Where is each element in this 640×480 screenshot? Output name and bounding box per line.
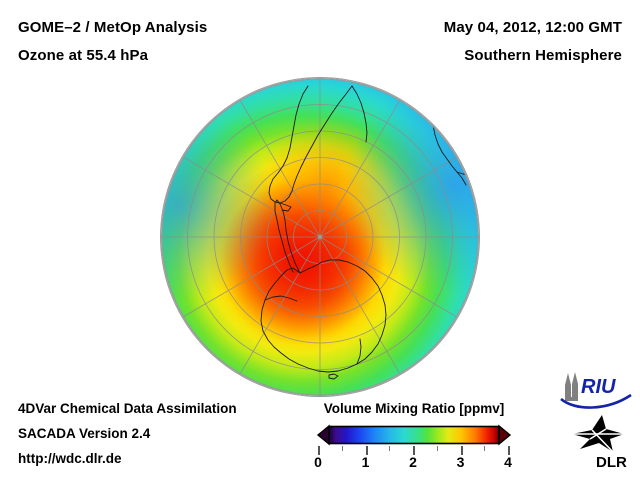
method-label: 4DVar Chemical Data Assimilation [18,401,237,416]
colorbar-title: Volume Mixing Ratio [ppmv] [318,401,510,416]
riu-wordmark: RIU [581,376,616,398]
datetime-label: May 04, 2012, 12:00 GMT [444,19,622,36]
region-label: Southern Hemisphere [464,47,622,64]
dlr-wordmark: DLR [596,454,627,471]
colorbar-tick-label: 3 [457,454,465,470]
south-pole-marker [318,235,322,239]
colorbar [306,424,522,446]
quantity-subtitle: Ozone at 55.4 hPa [18,47,148,64]
globe-map [161,78,479,396]
riu-logo: RIU [559,371,637,411]
colorbar-extend-high [499,426,510,444]
colorbar-tick-label: 0 [314,454,322,470]
website-url[interactable]: http://wdc.dlr.de [18,451,122,466]
colorbar-tick-label: 2 [409,454,417,470]
visualization-canvas: GOME–2 / MetOp Analysis Ozone at 55.4 hP… [0,0,640,480]
colorbar-bar [329,427,499,444]
ozone-field-plot [161,78,479,396]
colorbar-tick-label: 4 [504,454,512,470]
coastline-madagascar [474,182,479,200]
colorbar-extend-low [318,426,329,444]
dlr-emblem-icon [572,415,624,452]
colorbar-tick-label: 1 [362,454,370,470]
colorbar-tick-labels: 01234 [318,454,508,474]
riu-cathedral-icon [565,372,578,401]
version-label: SACADA Version 2.4 [18,426,150,441]
instrument-title: GOME–2 / MetOp Analysis [18,19,207,36]
globe-disc [161,78,479,396]
dlr-logo: DLR [566,413,634,473]
colorbar-gradient [306,424,522,446]
